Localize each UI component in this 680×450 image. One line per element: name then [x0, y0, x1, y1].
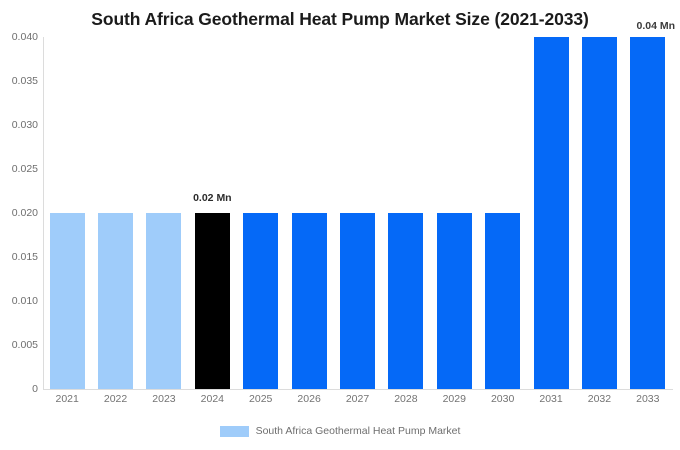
x-axis-tick-label-2023: 2023: [152, 393, 175, 405]
y-axis-tick-label: 0.020: [0, 207, 38, 219]
bar-2031[interactable]: [534, 37, 569, 389]
y-axis-tick-label: 0.030: [0, 119, 38, 131]
x-axis-tick-label-2032: 2032: [588, 393, 611, 405]
chart-legend: South Africa Geothermal Heat Pump Market: [0, 425, 680, 437]
bars-layer: 0.02 Mn: [43, 37, 672, 389]
x-axis-tick-label-2030: 2030: [491, 393, 514, 405]
bar-2023[interactable]: [146, 213, 181, 389]
bar-2027[interactable]: [340, 213, 375, 389]
data-label-2024: 0.02 Mn: [193, 192, 232, 204]
bar-2024[interactable]: [195, 213, 230, 389]
x-axis-tick-label-2031: 2031: [539, 393, 562, 405]
y-axis-labels: 00.0050.0100.0150.0200.0250.0300.0350.04…: [0, 37, 38, 389]
x-axis-tick-label-2028: 2028: [394, 393, 417, 405]
y-axis-tick-label: 0.035: [0, 75, 38, 87]
x-axis-tick-label-2033: 2033: [636, 393, 659, 405]
chart-title: South Africa Geothermal Heat Pump Market…: [0, 9, 680, 30]
data-label-2033: 0.04 Mn: [636, 20, 675, 32]
bar-2028[interactable]: [388, 213, 423, 389]
bar-2029[interactable]: [437, 213, 472, 389]
y-axis-tick-label: 0.040: [0, 31, 38, 43]
bar-2033[interactable]: [630, 37, 665, 389]
y-axis-tick-label: 0: [0, 383, 38, 395]
bar-2026[interactable]: [292, 213, 327, 389]
y-axis-tick-label: 0.015: [0, 251, 38, 263]
x-axis-tick-label-2029: 2029: [443, 393, 466, 405]
bar-2030[interactable]: [485, 213, 520, 389]
chart-container: South Africa Geothermal Heat Pump Market…: [0, 0, 680, 450]
bar-2021[interactable]: [50, 213, 85, 389]
bar-2025[interactable]: [243, 213, 278, 389]
x-axis-tick-label-2027: 2027: [346, 393, 369, 405]
x-axis-tick-label-2024: 2024: [201, 393, 224, 405]
bar-2022[interactable]: [98, 213, 133, 389]
legend-label: South Africa Geothermal Heat Pump Market: [256, 425, 461, 437]
x-axis-labels: 2021202220232024202520262027202820292030…: [43, 393, 672, 413]
x-axis-tick-label-2026: 2026: [297, 393, 320, 405]
x-axis-tick-label-2025: 2025: [249, 393, 272, 405]
bar-2032[interactable]: [582, 37, 617, 389]
y-axis-tick-label: 0.005: [0, 339, 38, 351]
x-axis-tick-label-2021: 2021: [56, 393, 79, 405]
x-axis-tick-label-2022: 2022: [104, 393, 127, 405]
legend-swatch-south-africa-geothermal-heat-pump-market: [220, 426, 249, 437]
y-axis-tick-label: 0.010: [0, 295, 38, 307]
y-axis-tick-label: 0.025: [0, 163, 38, 175]
